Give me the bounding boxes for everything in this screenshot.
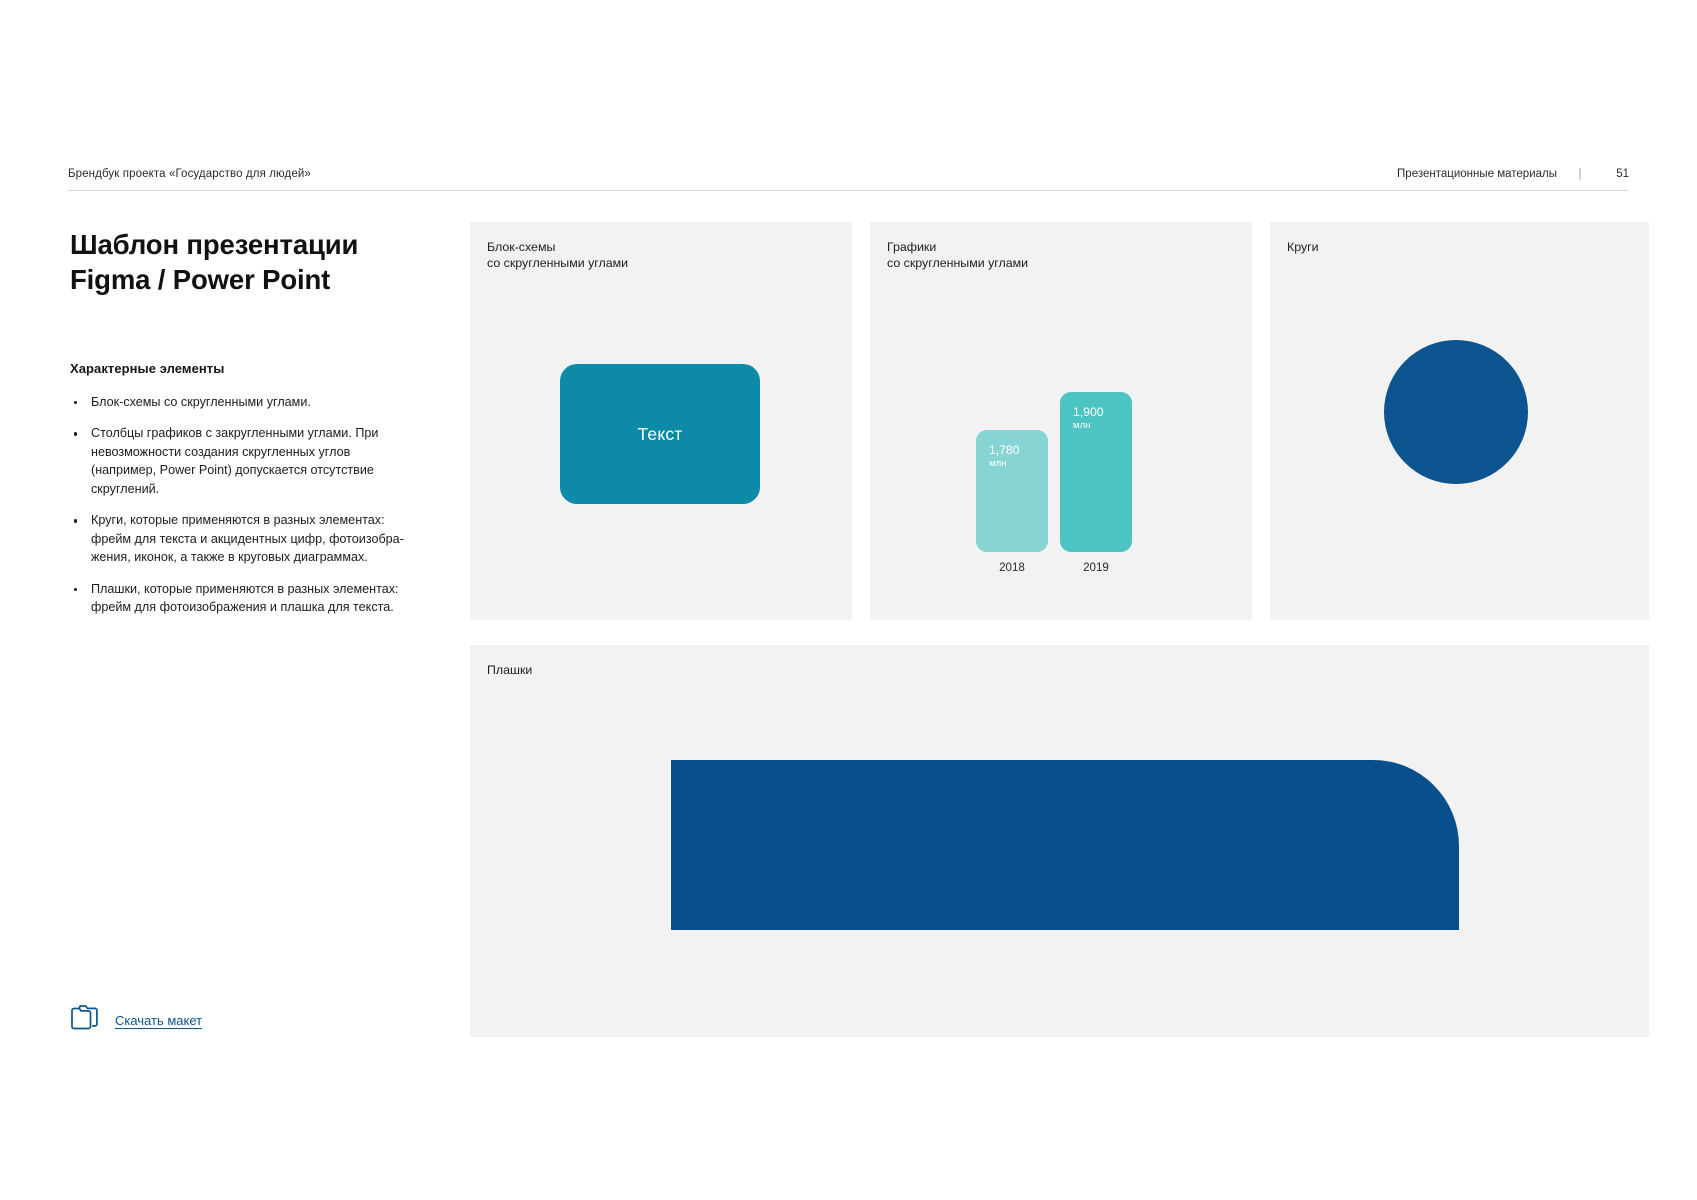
header-divider	[68, 190, 1629, 191]
panel-charts: Графики со скругленными углами 1,780 млн…	[870, 222, 1252, 620]
header-meta: Презентационные материалы | 51	[1397, 168, 1629, 180]
panel-label-plates: Плашки	[487, 662, 532, 678]
list-item: Плашки, которые применяются в разных эле…	[70, 580, 415, 617]
bar-chart-plot: 1,780 млн 1,900 млн	[972, 332, 1152, 552]
bar-2018: 1,780 млн	[976, 430, 1048, 552]
page-header: Брендбук проекта «Государство для людей»…	[68, 168, 1629, 190]
left-column: Шаблон презентации Figma / Power Point Х…	[70, 228, 415, 630]
header-separator: |	[1557, 168, 1603, 180]
panel-label-flowcharts: Блок-схемы со скругленными углами	[487, 239, 628, 272]
bar-value-2018: 1,780	[989, 443, 1048, 458]
list-item: Столбцы графиков с закругленными углами.…	[70, 424, 415, 498]
brandbook-page: Брендбук проекта «Государство для людей»…	[0, 0, 1697, 1200]
page-title: Шаблон презентации Figma / Power Point	[70, 228, 415, 298]
list-item: Блок-схемы со скругленными углами.	[70, 393, 415, 412]
panel-label-circles: Круги	[1287, 239, 1319, 255]
header-section-name: Презентационные материалы	[1397, 168, 1557, 180]
bar-2019: 1,900 млн	[1060, 392, 1132, 552]
flowchart-block-sample: Текст	[560, 364, 760, 504]
circle-sample	[1384, 340, 1528, 484]
panel-label-charts: Графики со скругленными углами	[887, 239, 1028, 272]
page-number: 51	[1603, 168, 1629, 180]
bar-value-2019: 1,900	[1073, 405, 1132, 420]
panel-plates: Плашки	[470, 645, 1649, 1037]
list-item: Круги, которые применяются в разных элем…	[70, 511, 415, 567]
panel-circles: Круги	[1270, 222, 1649, 620]
section-subheading: Характерные элементы	[70, 361, 415, 376]
folder-icon	[70, 1005, 100, 1036]
download-row[interactable]: Скачать макет	[70, 1005, 202, 1036]
bar-unit-2018: млн	[989, 458, 1048, 471]
bar-category-2018: 2018	[976, 561, 1048, 574]
brandbook-title: Брендбук проекта «Государство для людей»	[68, 168, 311, 180]
plate-sample	[671, 760, 1459, 930]
bar-chart-categories: 2018 2019	[972, 552, 1152, 578]
panel-flowcharts: Блок-схемы со скругленными углами Текст	[470, 222, 852, 620]
flowchart-block-text: Текст	[638, 424, 683, 445]
download-layout-link[interactable]: Скачать макет	[115, 1013, 202, 1028]
feature-list: Блок-схемы со скругленными углами. Столб…	[70, 393, 415, 617]
bar-unit-2019: млн	[1073, 420, 1132, 433]
bar-category-2019: 2019	[1060, 561, 1132, 574]
bar-chart: 1,780 млн 1,900 млн 2018 2019	[972, 332, 1152, 582]
